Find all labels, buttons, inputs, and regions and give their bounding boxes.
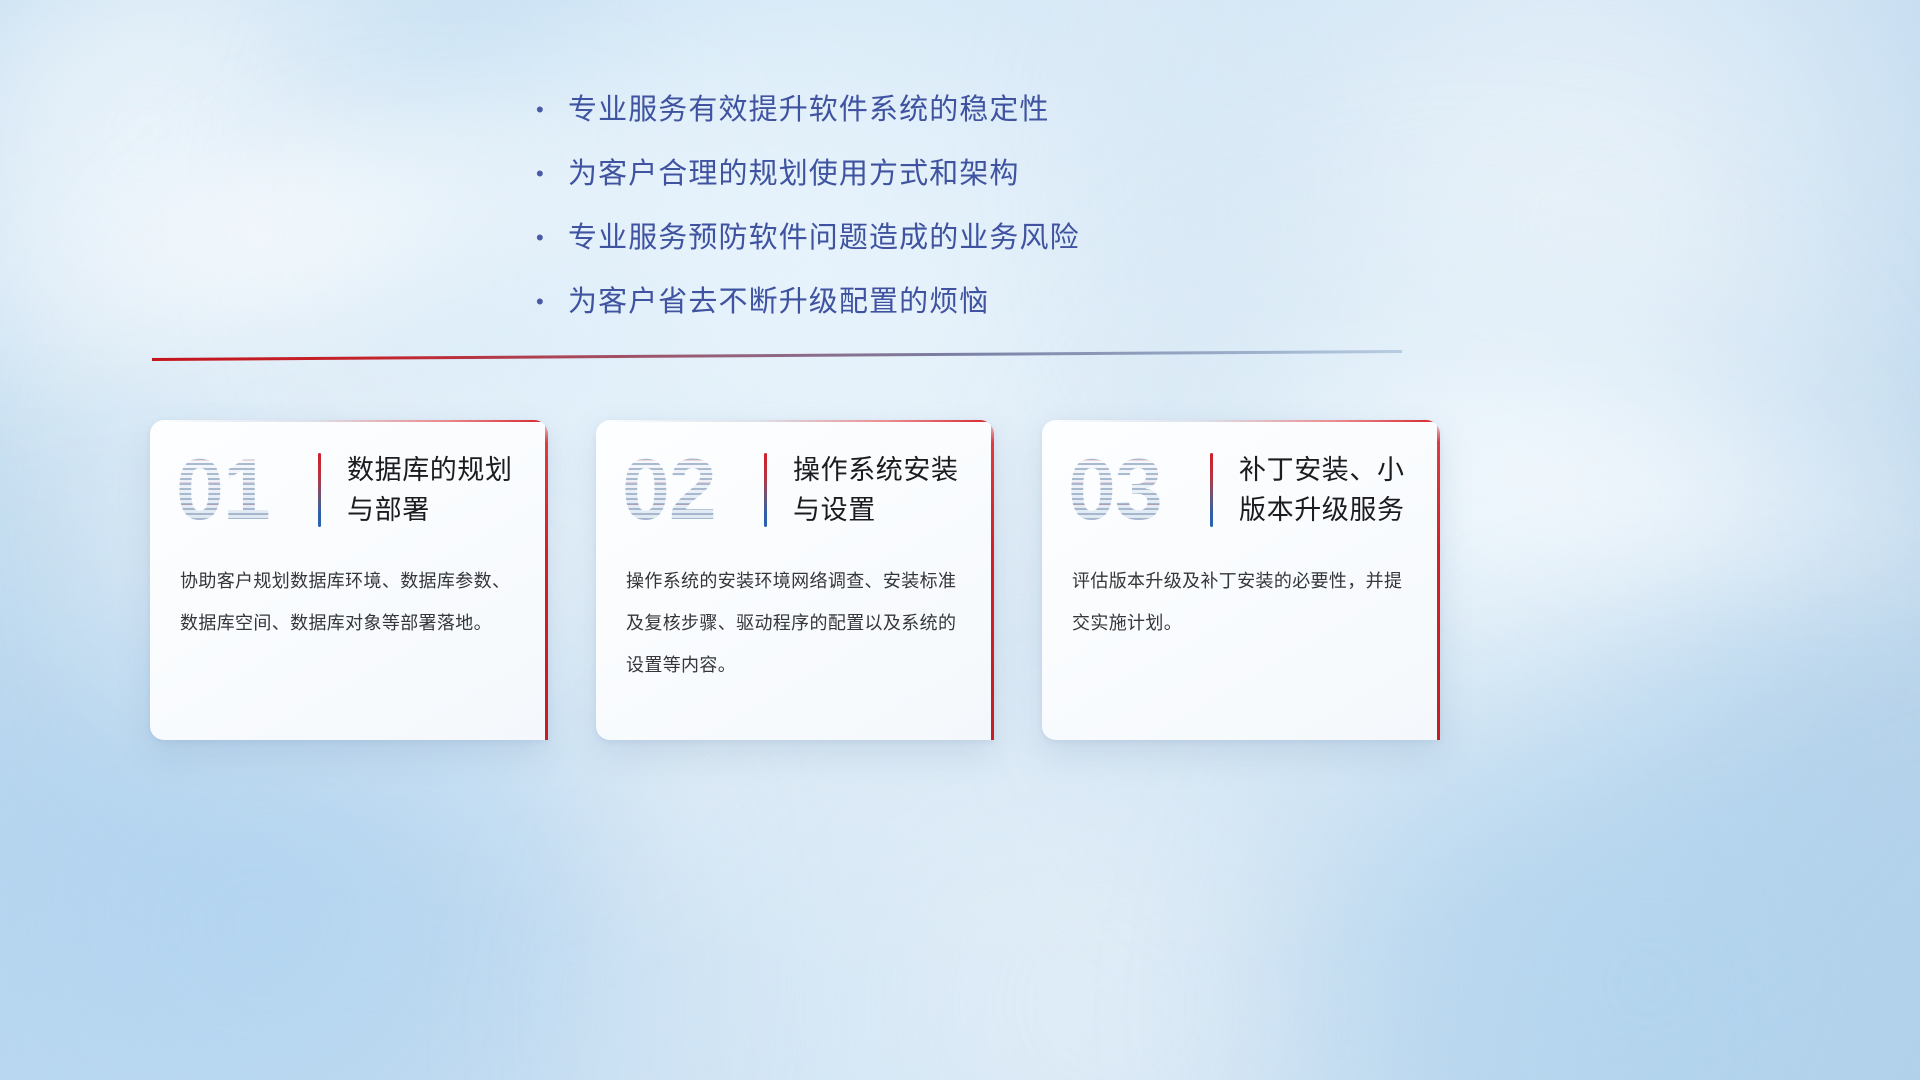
benefits-bullet-list: • 专业服务有效提升软件系统的稳定性 • 为客户合理的规划使用方式和架构 • 专… — [536, 86, 1436, 342]
section-divider — [152, 350, 1402, 362]
bullet-marker-icon: • — [536, 150, 568, 198]
card-header: 03 03 补丁安装、小版本升级服务 — [1042, 420, 1440, 560]
card-number-wrap: 02 02 — [622, 438, 750, 542]
bullet-item-label: 专业服务预防软件问题造成的业务风险 — [568, 214, 1080, 262]
card-vertical-divider — [1210, 453, 1213, 527]
card-number-wrap: 03 03 — [1068, 438, 1196, 542]
service-card[interactable]: 02 02 操作系统安装与设置 操作系统的安装环境网络调查、安装标准及复核步骤、… — [596, 420, 994, 740]
card-number-watermark: 03 — [1068, 438, 1196, 542]
card-description: 操作系统的安装环境网络调查、安装标准及复核步骤、驱动程序的配置以及系统的设置等内… — [596, 560, 994, 686]
bullet-marker-icon: • — [536, 86, 568, 134]
card-title: 补丁安装、小版本升级服务 — [1239, 450, 1418, 530]
card-number-watermark: 02 — [622, 438, 750, 542]
card-header: 01 01 数据库的规划与部署 — [150, 420, 548, 560]
card-description: 协助客户规划数据库环境、数据库参数、数据库空间、数据库对象等部署落地。 — [150, 560, 548, 644]
card-title: 数据库的规划与部署 — [347, 450, 526, 530]
card-vertical-divider — [318, 453, 321, 527]
bullet-marker-icon: • — [536, 214, 568, 262]
bullet-item: • 专业服务预防软件问题造成的业务风险 — [536, 214, 1436, 262]
bullet-item-label: 为客户省去不断升级配置的烦恼 — [568, 278, 989, 326]
bullet-item: • 为客户省去不断升级配置的烦恼 — [536, 278, 1436, 326]
service-card[interactable]: 03 03 补丁安装、小版本升级服务 评估版本升级及补丁安装的必要性，并提交实施… — [1042, 420, 1440, 740]
bullet-item: • 为客户合理的规划使用方式和架构 — [536, 150, 1436, 198]
service-card[interactable]: 01 01 数据库的规划与部署 协助客户规划数据库环境、数据库参数、数据库空间、… — [150, 420, 548, 740]
card-number-wrap: 01 01 — [176, 438, 304, 542]
bullet-marker-icon: • — [536, 278, 568, 326]
bullet-item: • 专业服务有效提升软件系统的稳定性 — [536, 86, 1436, 134]
bullet-item-label: 专业服务有效提升软件系统的稳定性 — [568, 86, 1050, 134]
bullet-item-label: 为客户合理的规划使用方式和架构 — [568, 150, 1020, 198]
card-vertical-divider — [764, 453, 767, 527]
card-number-watermark: 01 — [176, 438, 304, 542]
service-card-list: 01 01 数据库的规划与部署 协助客户规划数据库环境、数据库参数、数据库空间、… — [150, 420, 1440, 740]
card-description: 评估版本升级及补丁安装的必要性，并提交实施计划。 — [1042, 560, 1440, 644]
card-title: 操作系统安装与设置 — [793, 450, 972, 530]
card-header: 02 02 操作系统安装与设置 — [596, 420, 994, 560]
